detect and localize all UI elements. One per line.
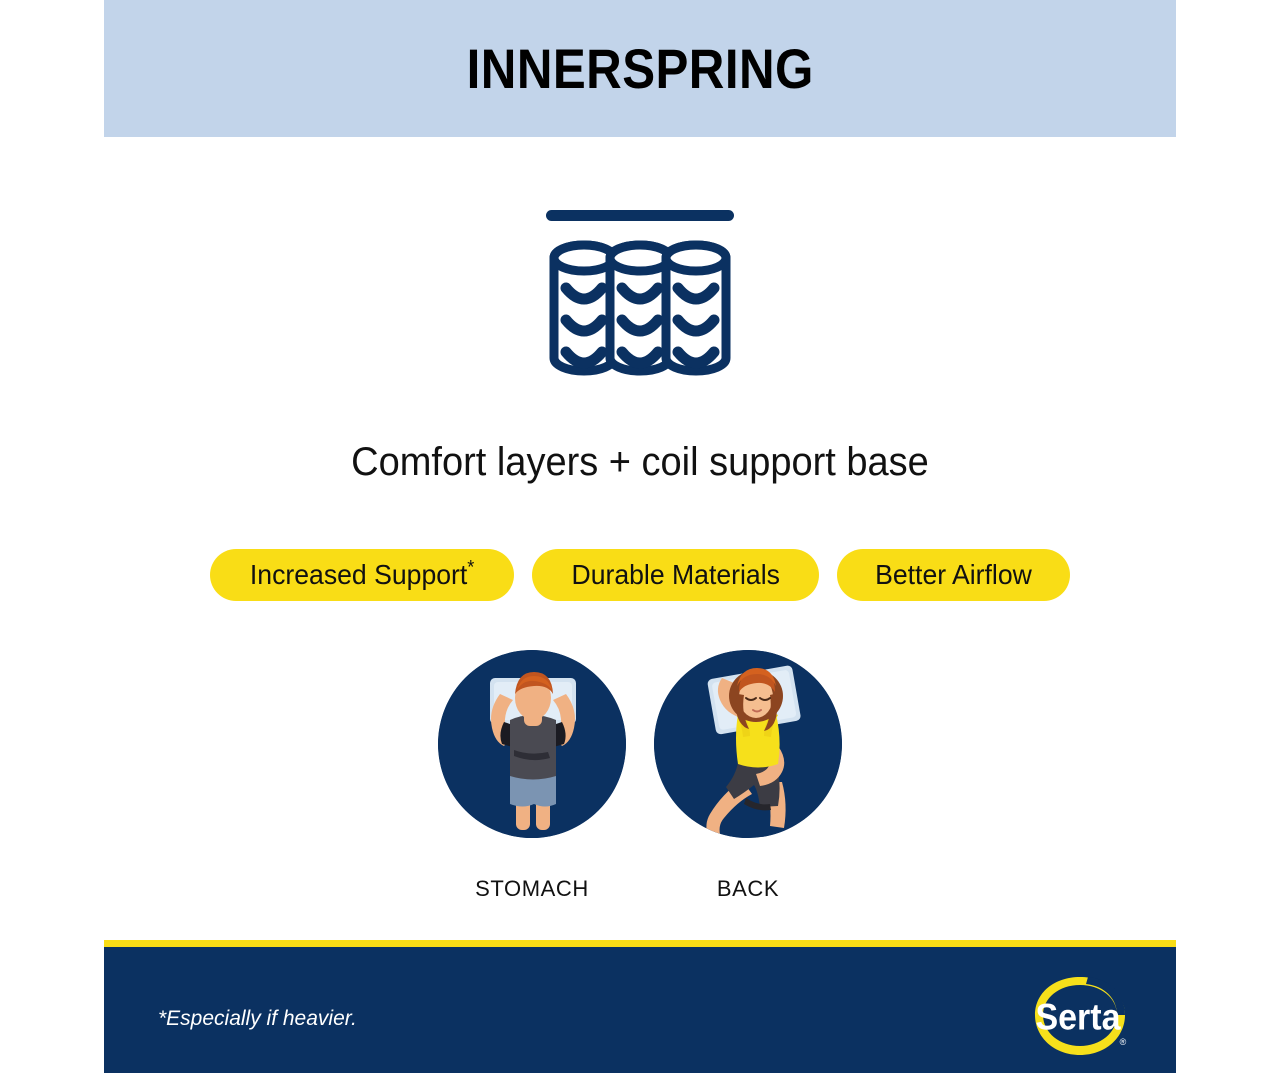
serta-wordmark: Serta	[1035, 997, 1120, 1037]
infographic-card: INNERSPRING	[104, 0, 1176, 1073]
feature-pill-durable-materials[interactable]: Durable Materials	[532, 549, 819, 601]
feature-pill-better-airflow[interactable]: Better Airflow	[837, 549, 1070, 601]
page-title: INNERSPRING	[466, 36, 813, 101]
sleep-position-stomach[interactable]: STOMACH	[438, 650, 626, 902]
sleep-position-label: BACK	[717, 876, 779, 902]
footnote-text: *Especially if heavier.	[158, 1007, 357, 1031]
coil-springs-icon	[104, 196, 1176, 396]
sleep-position-label: STOMACH	[475, 876, 589, 902]
feature-pill-label: Better Airflow	[875, 559, 1032, 591]
sleep-position-row: STOMACH	[104, 650, 1176, 902]
stomach-sleeper-illustration	[438, 650, 626, 838]
back-sleeper-illustration	[654, 650, 842, 838]
serta-logo[interactable]: Serta ®	[1028, 971, 1132, 1063]
feature-pill-row: Increased Support* Durable Materials Bet…	[104, 549, 1176, 601]
footer-bar: *Especially if heavier. Serta ®	[104, 940, 1176, 1073]
header-banner: INNERSPRING	[104, 0, 1176, 137]
feature-pill-increased-support[interactable]: Increased Support*	[210, 549, 514, 601]
sleep-position-back[interactable]: BACK	[654, 650, 842, 902]
tagline: Comfort layers + coil support base	[131, 440, 1149, 485]
footnote-star: *	[467, 558, 474, 579]
registered-mark: ®	[1120, 1037, 1127, 1047]
feature-pill-label: Increased Support*	[250, 559, 474, 591]
feature-pill-label: Durable Materials	[571, 559, 779, 591]
